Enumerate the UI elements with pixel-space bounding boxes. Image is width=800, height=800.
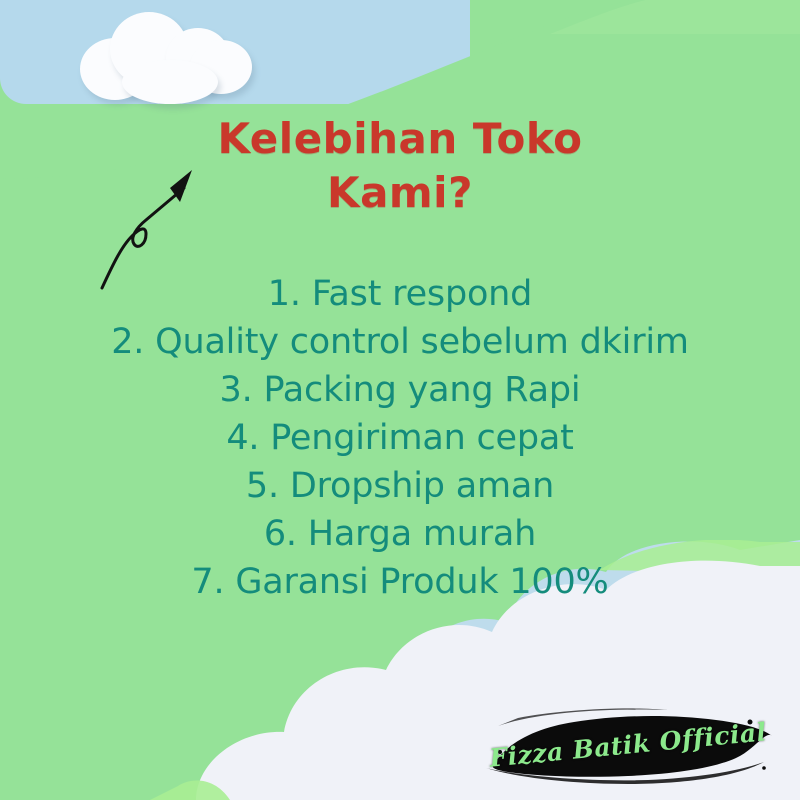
page-title: Kelebihan Toko Kami? (0, 112, 800, 220)
promo-poster: Kelebihan Toko Kami? 1. Fast respond 2. … (0, 0, 800, 800)
watermark: Fizza Batik Official (478, 706, 778, 784)
list-item: 4. Pengiriman cepat (0, 414, 800, 462)
list-item: 6. Harga murah (0, 510, 800, 558)
list-item: 1. Fast respond (0, 270, 800, 318)
benefits-list: 1. Fast respond 2. Quality control sebel… (0, 270, 800, 606)
list-item: 3. Packing yang Rapi (0, 366, 800, 414)
list-item: 5. Dropship aman (0, 462, 800, 510)
list-item: 7. Garansi Produk 100% (0, 558, 800, 606)
list-item: 2. Quality control sebelum dkirim (0, 318, 800, 366)
poster-content: Kelebihan Toko Kami? 1. Fast respond 2. … (0, 0, 800, 800)
title-line-1: Kelebihan Toko (0, 112, 800, 166)
title-line-2: Kami? (0, 166, 800, 220)
